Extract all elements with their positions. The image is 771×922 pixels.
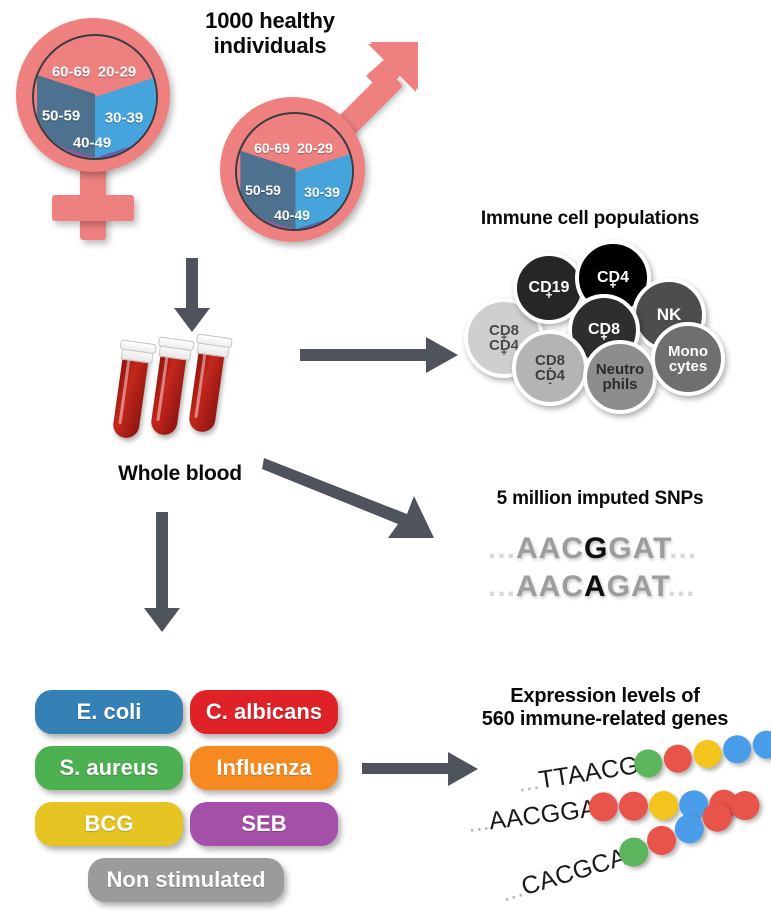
- cell-line: Mono: [668, 344, 708, 359]
- arrow-cohort-to-blood: [172, 258, 212, 334]
- stimulus-label: S. aureus: [59, 755, 158, 781]
- stimulus-e-coli[interactable]: E. coli: [35, 690, 183, 734]
- snp-left: AAC: [516, 570, 584, 603]
- blood-tube: [187, 334, 231, 442]
- snp-left: AAC: [516, 532, 584, 565]
- immune-cell-cd8-cd4-double-negative: CD8- CD4-: [512, 330, 588, 406]
- cell-line: NK: [657, 306, 682, 323]
- pie-label-40-49: 40-49: [73, 135, 111, 152]
- male-arrowhead: [348, 40, 420, 120]
- stimulus-label: E. coli: [77, 699, 142, 725]
- male-age-pie: 20-29 30-39 40-49 50-59 60-69: [235, 112, 354, 231]
- immune-title: Immune cell populations: [440, 208, 740, 230]
- cell-line: CD8+: [489, 323, 519, 338]
- whole-blood-label: Whole blood: [80, 462, 280, 486]
- female-symbol: 20-29 30-39 40-49 50-59 60-69: [8, 10, 208, 245]
- snp-right: GAT: [608, 532, 669, 565]
- cell-line: CD8-: [535, 353, 565, 368]
- pie-label-60-69: 60-69: [52, 64, 90, 81]
- stimulus-non-stimulated[interactable]: Non stimulated: [88, 858, 284, 902]
- gene-bead: [691, 738, 723, 770]
- blood-tube: [111, 340, 155, 448]
- pie-label-50-59: 50-59: [42, 108, 80, 125]
- cell-line: CD4-: [535, 368, 565, 383]
- male-symbol: 20-29 30-39 40-49 50-59 60-69: [200, 45, 420, 240]
- arrow-blood-to-immune: [300, 336, 460, 376]
- snp-prefix: ...: [488, 570, 516, 603]
- pie-label-50-59: 50-59: [245, 182, 281, 198]
- cohort-section: 1000 healthy individuals 20-29 30-39 40-…: [0, 0, 430, 260]
- expression-title: Expression levels of 560 immune-related …: [445, 685, 765, 731]
- snp-right: GAT: [607, 570, 668, 603]
- pie-label-60-69: 60-69: [254, 140, 290, 156]
- cell-line: CD4+: [489, 338, 519, 353]
- cell-line: Neutro: [596, 362, 644, 377]
- snps-title: 5 million imputed SNPs: [450, 488, 750, 510]
- stimulus-influenza[interactable]: Influenza: [190, 746, 338, 790]
- cell-line: cytes: [669, 359, 707, 374]
- gene-bead: [662, 743, 694, 775]
- gene-bead: [721, 733, 753, 765]
- whole-blood-section: Whole blood: [85, 330, 300, 490]
- pie-label-40-49: 40-49: [274, 207, 310, 223]
- snp-variant-allele: G: [584, 532, 608, 565]
- arrow-blood-to-stimuli: [142, 512, 182, 634]
- stimulus-label: SEB: [241, 811, 286, 837]
- gene-bead: [751, 729, 771, 761]
- cell-line: phils: [602, 377, 637, 392]
- immune-section: Immune cell populations CD8+ CD4+ CD19+ …: [440, 200, 771, 420]
- cell-line: CD8+: [588, 322, 620, 338]
- blood-tube: [149, 337, 193, 445]
- female-crossbar: [52, 195, 134, 221]
- expression-title-line2: 560 immune-related genes: [445, 708, 765, 731]
- gene-bead: [617, 790, 649, 822]
- expression-section: Expression levels of 560 immune-related …: [440, 660, 771, 922]
- pie-label-20-29: 20-29: [98, 64, 136, 81]
- snps-section: 5 million imputed SNPs ...AACGGAT... ...…: [450, 470, 771, 630]
- stimulus-bcg[interactable]: BCG: [35, 802, 183, 846]
- female-age-pie: 20-29 30-39 40-49 50-59 60-69: [32, 34, 158, 160]
- stimulus-label: Non stimulated: [107, 867, 266, 893]
- cell-line: CD19+: [529, 280, 570, 296]
- pie-label-30-39: 30-39: [105, 110, 143, 127]
- snp-variant-allele: A: [584, 570, 607, 603]
- stimulus-seb[interactable]: SEB: [190, 802, 338, 846]
- stimulus-label: C. albicans: [206, 699, 322, 725]
- snp-sequence-reference: ...AACGGAT...: [488, 532, 697, 566]
- stimuli-section: E. coli C. albicans S. aureus Influenza …: [20, 660, 350, 900]
- immune-cell-monocytes: Mono cytes: [651, 322, 725, 396]
- snp-suffix: ...: [667, 570, 695, 603]
- stimulus-label: Influenza: [216, 755, 311, 781]
- cell-line: CD4+: [597, 270, 629, 286]
- snp-suffix: ...: [669, 532, 697, 565]
- stimulus-label: BCG: [85, 811, 134, 837]
- pie-label-30-39: 30-39: [304, 184, 340, 200]
- expression-title-line1: Expression levels of: [445, 685, 765, 708]
- snp-sequence-alternate: ...AACAGAT...: [488, 570, 695, 604]
- pie-label-20-29: 20-29: [297, 140, 333, 156]
- immune-cell-neutrophils: Neutro phils: [583, 340, 657, 414]
- gene-bead: [647, 789, 679, 821]
- stimulus-c-albicans[interactable]: C. albicans: [190, 690, 338, 734]
- stimulus-s-aureus[interactable]: S. aureus: [35, 746, 183, 790]
- snp-prefix: ...: [488, 532, 516, 565]
